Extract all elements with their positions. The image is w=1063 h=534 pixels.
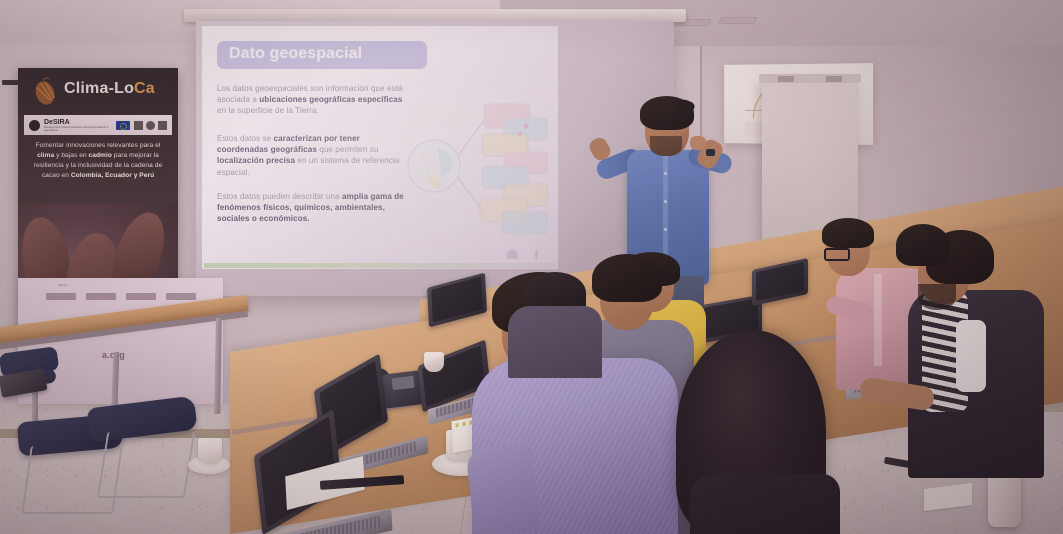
flipchart-clip-icon: [826, 76, 842, 82]
attendee-shirt: [508, 306, 602, 378]
flipchart-clip-icon: [778, 76, 794, 82]
banner-brand-main: Clima-Lo: [64, 80, 134, 97]
eyeglasses-icon: [824, 248, 850, 261]
ceiling-vent-icon: [719, 17, 758, 24]
attendee-tshirt: [956, 320, 986, 392]
attendee-beard: [918, 284, 956, 310]
partner-logo-icon: [158, 121, 167, 130]
desira-mark-icon: [29, 120, 40, 131]
partner-logo-icon: [86, 293, 116, 300]
partner-logo-icon: [146, 121, 155, 130]
desira-block: DeSIRA Development Smart Innovation thro…: [44, 119, 112, 132]
presenter-hand: [690, 136, 706, 150]
attendee-hair: [822, 218, 874, 248]
desira-sublabel: Development Smart Innovation through Res…: [44, 126, 112, 132]
partner-logo-icon: [126, 293, 156, 300]
cacao-pod-icon: [30, 77, 60, 107]
attendee-hair: [896, 224, 950, 266]
shirt-button-icon: [664, 172, 667, 175]
coffee-cup: [198, 438, 222, 462]
flipchart-top-bar: [759, 74, 861, 83]
banner-brand-accent: Ca: [134, 80, 155, 97]
partner-logos: [134, 121, 167, 130]
partner-logo-icon: [46, 293, 76, 300]
presentation-room-photo: Alianza Bioversity & CIAT La Alianza Bio…: [0, 0, 1063, 534]
attendee-shoulders: [690, 474, 840, 534]
attendee-hair: [592, 254, 662, 302]
desira-label: DeSIRA: [44, 119, 112, 126]
partner-logo-icon: [166, 293, 196, 300]
banner-lower-caption: Socios: [58, 283, 67, 287]
wristwatch-icon: [706, 149, 715, 156]
eu-flag-icon: [116, 121, 130, 130]
banner-brand: Clima-LoCa: [64, 80, 155, 98]
banner-lower-logos: [46, 292, 196, 301]
shirt-button-icon: [664, 228, 667, 231]
presenter-beard: [650, 136, 682, 156]
banner-tagline: Fomentar innovaciones relevantes para el…: [29, 141, 167, 181]
chair-frame: [97, 432, 195, 498]
partner-logo-icon: [134, 121, 143, 130]
shirt-placket: [874, 274, 882, 366]
banner-partner-strip: DeSIRA Development Smart Innovation thro…: [24, 115, 172, 135]
attendee-arm: [466, 443, 541, 534]
shirt-button-icon: [664, 200, 667, 203]
coffee-cup: [424, 352, 444, 372]
